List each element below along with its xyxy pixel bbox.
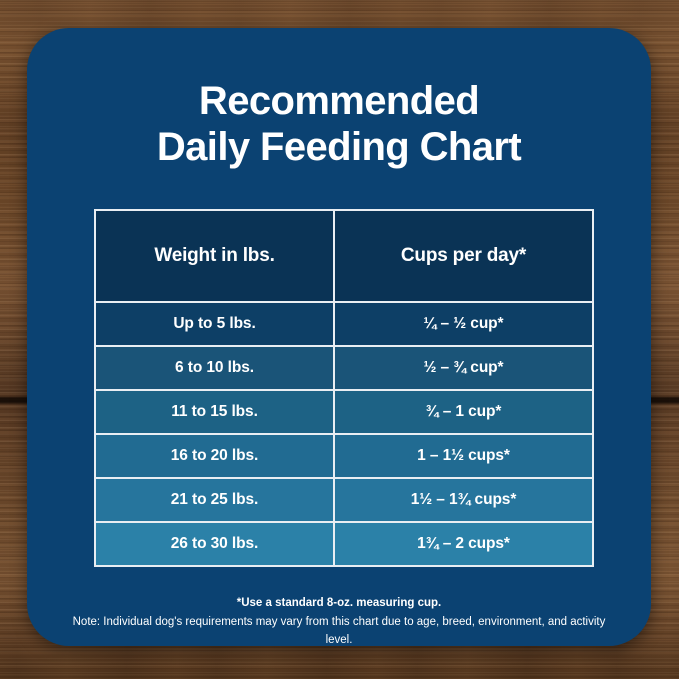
table-row: 6 to 10 lbs. ½ – ¾ cup* [95, 346, 593, 390]
feeding-table: Weight in lbs. Cups per day* Up to 5 lbs… [94, 209, 594, 567]
cell-weight: 11 to 15 lbs. [95, 390, 334, 434]
column-header-weight: Weight in lbs. [95, 210, 334, 302]
table-row: 11 to 15 lbs. ¾ – 1 cup* [95, 390, 593, 434]
table-header-row: Weight in lbs. Cups per day* [95, 210, 593, 302]
footnote-measuring-cup: *Use a standard 8-oz. measuring cup. [59, 595, 619, 613]
page-title-line-1: Recommended [67, 78, 611, 124]
footnotes: *Use a standard 8-oz. measuring cup. Not… [59, 595, 619, 646]
cell-weight: 6 to 10 lbs. [95, 346, 334, 390]
column-header-cups: Cups per day* [334, 210, 593, 302]
page-title: Recommended Daily Feeding Chart [27, 28, 651, 171]
cell-weight: 26 to 30 lbs. [95, 522, 334, 566]
feeding-chart-card: Recommended Daily Feeding Chart Weight i… [27, 28, 651, 646]
feeding-table-container: Weight in lbs. Cups per day* Up to 5 lbs… [94, 209, 584, 567]
cell-cups: ¾ – 1 cup* [334, 390, 593, 434]
cell-cups: ¼ – ½ cup* [334, 302, 593, 346]
table-row: 21 to 25 lbs. 1½ – 1¾ cups* [95, 478, 593, 522]
cell-cups: 1 – 1½ cups* [334, 434, 593, 478]
page-title-line-2: Daily Feeding Chart [67, 124, 611, 170]
cell-weight: Up to 5 lbs. [95, 302, 334, 346]
cell-cups: 1½ – 1¾ cups* [334, 478, 593, 522]
cell-weight: 16 to 20 lbs. [95, 434, 334, 478]
table-body: Up to 5 lbs. ¼ – ½ cup* 6 to 10 lbs. ½ –… [95, 302, 593, 566]
table-header: Weight in lbs. Cups per day* [95, 210, 593, 302]
cell-cups: ½ – ¾ cup* [334, 346, 593, 390]
table-row: Up to 5 lbs. ¼ – ½ cup* [95, 302, 593, 346]
cell-cups: 1¾ – 2 cups* [334, 522, 593, 566]
cell-weight: 21 to 25 lbs. [95, 478, 334, 522]
footnote-note-line-1: Note: Individual dog's requirements may … [59, 613, 619, 646]
table-row: 16 to 20 lbs. 1 – 1½ cups* [95, 434, 593, 478]
table-row: 26 to 30 lbs. 1¾ – 2 cups* [95, 522, 593, 566]
